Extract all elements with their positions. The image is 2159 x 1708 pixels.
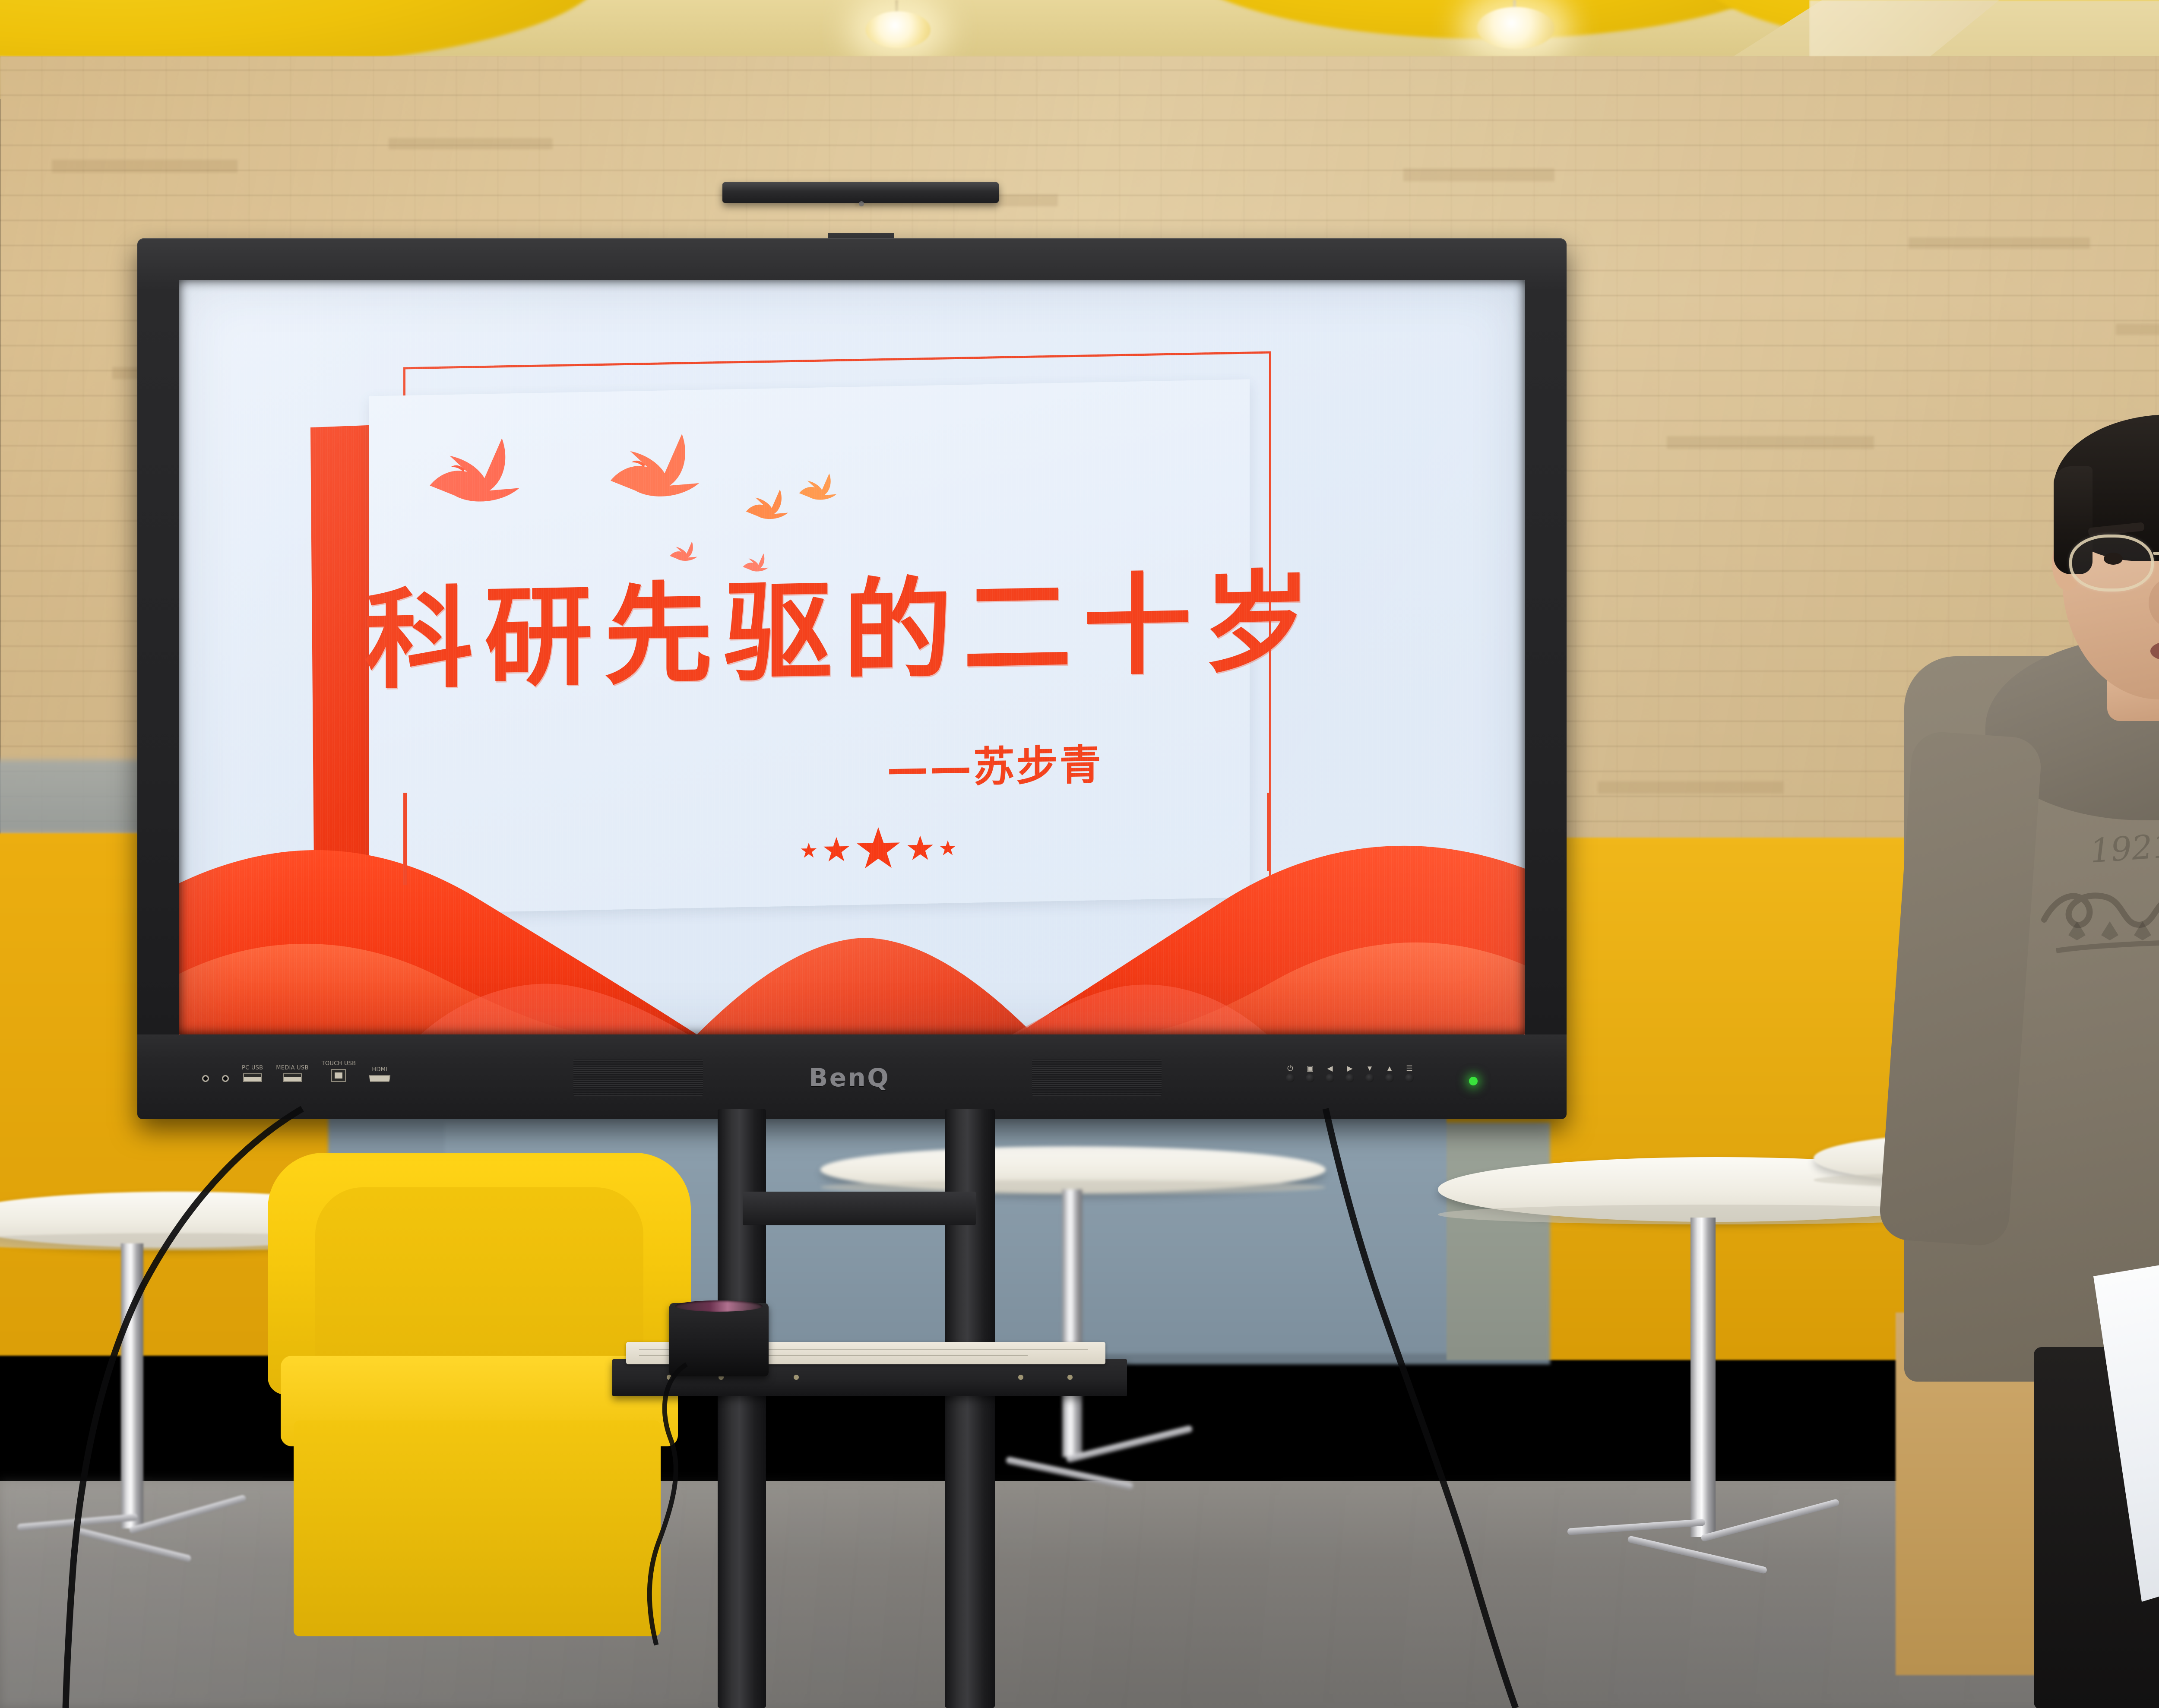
speaker-puck-top-ring <box>675 1300 763 1312</box>
speaker-cable <box>557 1360 738 1662</box>
hoodie-print-script <box>2034 859 2159 963</box>
power-cable-left <box>0 1105 432 1708</box>
power-cable-right <box>1114 1105 1632 1708</box>
photo-scene: 科研先驱的二十岁 ——苏步青 <box>0 0 2159 1708</box>
presenter-glasses <box>2064 530 2159 599</box>
glasses-bridge <box>2153 552 2159 555</box>
cart-crossbar <box>743 1192 976 1225</box>
standing-student-presenter: 1921 <box>1891 406 2159 1708</box>
presenter-eye-left <box>2104 553 2123 565</box>
